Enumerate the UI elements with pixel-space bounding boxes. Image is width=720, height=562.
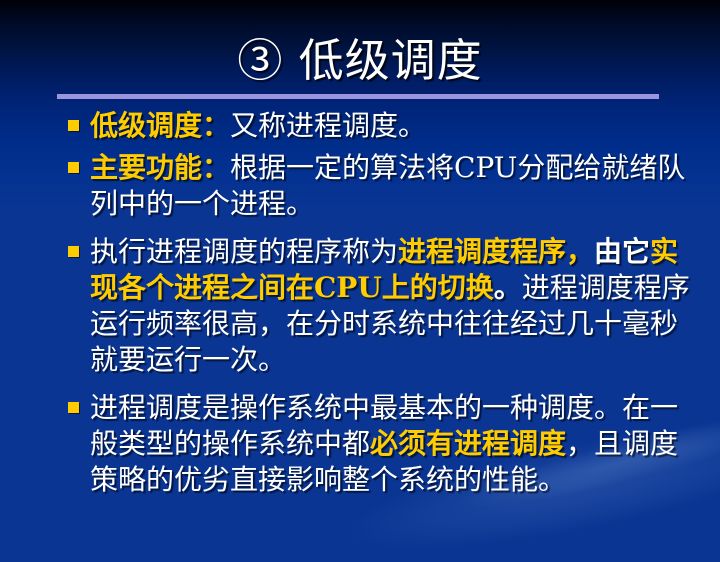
bullet-text-1: 低级调度：又称进程调度。 (90, 108, 702, 144)
bullet-text-2: 主要功能：根据一定的算法将CPU分配给就绪队列中的一个进程。 (90, 150, 702, 222)
bullet-item-2: 主要功能：根据一定的算法将CPU分配给就绪队列中的一个进程。 (0, 150, 720, 222)
slide-title: ③ 低级调度 (0, 36, 720, 86)
text-segment: 。 (494, 271, 522, 304)
text-segment: 执行进程调度的程序称为 (90, 235, 398, 268)
bullet-square-icon (68, 162, 79, 173)
slide-body: 低级调度：又称进程调度。 主要功能：根据一定的算法将CPU分配给就绪队列中的一个… (0, 108, 720, 500)
bullet-item-1: 低级调度：又称进程调度。 (0, 108, 720, 144)
bullet-text-3: 执行进程调度的程序称为进程调度程序，由它实现各个进程之间在CPU上的切换。进程调… (90, 234, 702, 378)
text-segment: 又称进程调度。 (230, 109, 426, 142)
title-divider-rule (57, 94, 659, 99)
text-segment: 主要功能： (90, 151, 230, 184)
bullet-item-4: 进程调度是操作系统中最基本的一种调度。在一般类型的操作系统中都必须有进程调度，且… (0, 390, 720, 498)
bullet-text-4: 进程调度是操作系统中最基本的一种调度。在一般类型的操作系统中都必须有进程调度，且… (90, 390, 702, 498)
text-segment: 低级调度： (90, 109, 230, 142)
presentation-slide: ③ 低级调度 低级调度：又称进程调度。 主要功能：根据一定的算法将CPU分配给就… (0, 0, 720, 562)
bullet-square-icon (68, 402, 79, 413)
bullet-square-icon (68, 246, 79, 257)
bullet-item-3: 执行进程调度的程序称为进程调度程序，由它实现各个进程之间在CPU上的切换。进程调… (0, 234, 720, 378)
text-segment: 由它 (594, 235, 650, 268)
text-segment: 必须有进程调度 (370, 427, 566, 460)
bullet-square-icon (68, 120, 79, 131)
text-segment: 进程调度程序， (398, 235, 594, 268)
